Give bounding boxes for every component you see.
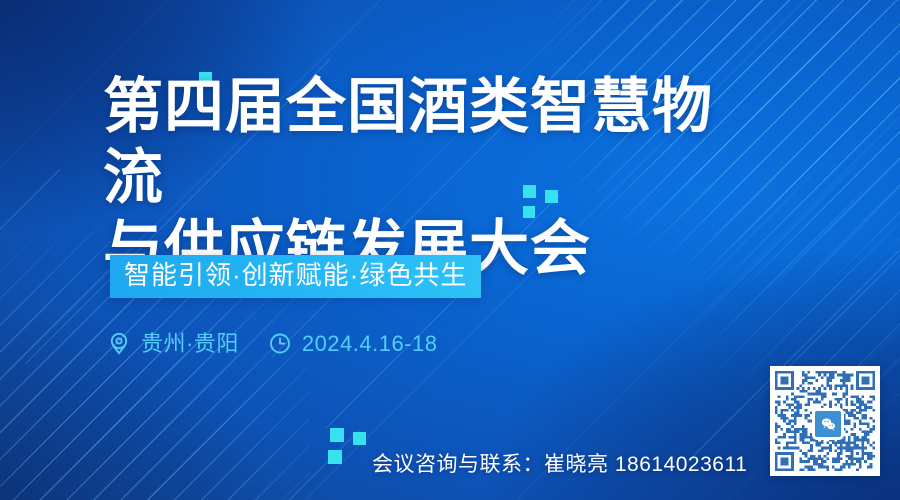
accent-square-bottom-1 xyxy=(330,428,344,442)
subtitle-band: 智能引领·创新赋能·绿色共生 xyxy=(110,255,481,298)
event-date: 2024.4.16-18 xyxy=(267,330,438,356)
event-location-label: 贵州·贵阳 xyxy=(141,333,239,355)
accent-square-bottom-2 xyxy=(353,432,366,445)
event-location: 贵州·贵阳 xyxy=(106,330,239,356)
contact-line: 会议咨询与联系：崔晓亮 18614023611 xyxy=(372,448,747,478)
poster-subtitle: 智能引领·创新赋能·绿色共生 xyxy=(124,259,467,292)
poster-title: 第四届全国酒类智慧物流 与供应链发展大会 xyxy=(103,72,743,284)
event-meta: 贵州·贵阳 2024.4.16-18 xyxy=(106,330,438,356)
qr-code[interactable] xyxy=(770,366,880,476)
wechat-logo-icon xyxy=(812,408,844,440)
guide-line-5 xyxy=(197,429,360,500)
clock-icon xyxy=(267,330,293,356)
location-pin-icon xyxy=(106,330,132,356)
conference-poster: 第四届全国酒类智慧物流 与供应链发展大会 智能引领·创新赋能·绿色共生 贵州·贵… xyxy=(0,0,900,500)
guide-line-3 xyxy=(0,169,60,403)
accent-square-bottom-3 xyxy=(328,450,342,464)
event-date-label: 2024.4.16-18 xyxy=(302,333,438,355)
